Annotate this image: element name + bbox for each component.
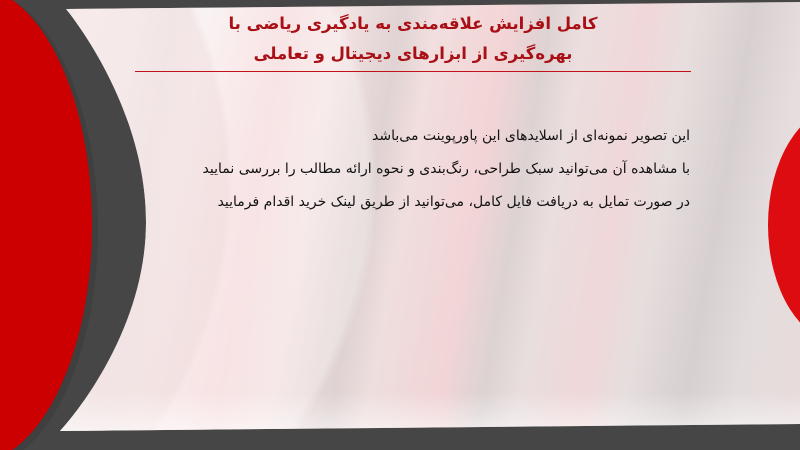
title-underline-rule (135, 71, 691, 72)
slide-body-text: این تصویر نمونه‌ای از اسلایدهای این پاور… (120, 120, 690, 219)
slide-title-line-1: کامل افزایش علاقه‌مندی به یادگیری ریاضی … (135, 9, 691, 39)
slide-title: کامل افزایش علاقه‌مندی به یادگیری ریاضی … (135, 9, 691, 69)
body-line-3: در صورت تمایل به دریافت فایل کامل، می‌تو… (120, 186, 690, 219)
slide-title-line-2: بهره‌گیری از ابزارهای دیجیتال و تعاملی (135, 39, 691, 69)
presentation-slide: کامل افزایش علاقه‌مندی به یادگیری ریاضی … (0, 0, 800, 450)
body-line-2: با مشاهده آن می‌توانید سبک طراحی، رنگ‌بن… (120, 153, 690, 186)
body-line-1: این تصویر نمونه‌ای از اسلایدهای این پاور… (120, 120, 690, 153)
